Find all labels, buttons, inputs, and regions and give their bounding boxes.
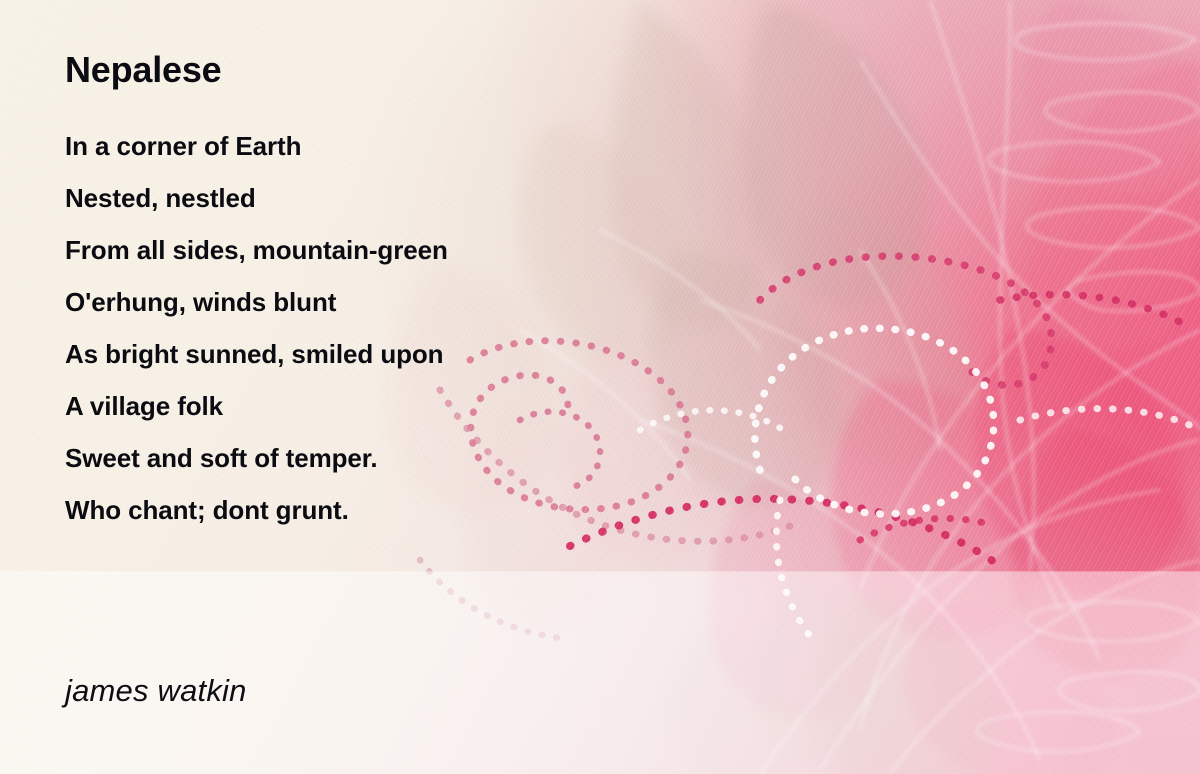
poem-line: O'erhung, winds blunt bbox=[65, 276, 685, 328]
poem-lines: In a corner of Earth Nested, nestled Fro… bbox=[65, 120, 685, 536]
poem-line: As bright sunned, smiled upon bbox=[65, 328, 685, 380]
poem-line: In a corner of Earth bbox=[65, 120, 685, 172]
poem-line: From all sides, mountain-green bbox=[65, 224, 685, 276]
poem-card: Nepalese In a corner of Earth Nested, ne… bbox=[0, 0, 1200, 774]
poem-text-block: Nepalese In a corner of Earth Nested, ne… bbox=[65, 0, 685, 536]
band-seam-line bbox=[0, 571, 1200, 572]
page-title: Nepalese bbox=[65, 0, 685, 92]
poem-line: A village folk bbox=[65, 380, 685, 432]
poem-line: Nested, nestled bbox=[65, 172, 685, 224]
poem-line: Sweet and soft of temper. bbox=[65, 432, 685, 484]
poem-author: james watkin bbox=[65, 673, 247, 709]
poem-line: Who chant; dont grunt. bbox=[65, 484, 685, 536]
